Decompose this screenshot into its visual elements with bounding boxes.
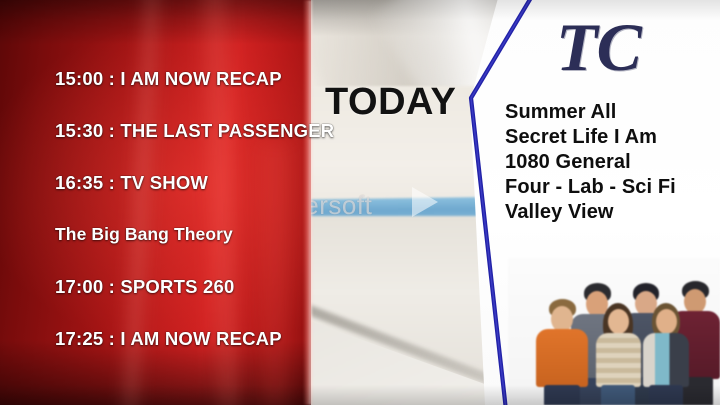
legs [649, 385, 683, 405]
schedule-row[interactable]: 15:30 : THE LAST PASSENGER [55, 120, 334, 142]
schedule-row[interactable]: 16:35 : TV SHOW [55, 172, 208, 194]
info-line: Summer All [505, 100, 720, 125]
person-1 [534, 285, 590, 405]
schedule-row[interactable]: 17:00 : SPORTS 260 [55, 276, 234, 298]
torso [536, 329, 588, 387]
schedule-row[interactable]: 17:25 : I AM NOW RECAP [55, 328, 282, 350]
tv-epg-screen: Aimersoft 15:00 : I AM NOW RECAP 15:30 :… [0, 0, 720, 405]
group-photo [508, 258, 720, 405]
today-label: TODAY [325, 81, 456, 124]
info-line: Four - Lab - Sci Fi [505, 175, 720, 200]
torso [643, 333, 689, 387]
legs [544, 385, 580, 405]
channel-logo: TC [556, 13, 641, 81]
person-3 [592, 287, 644, 405]
schedule-list: 15:00 : I AM NOW RECAP 15:30 : THE LAST … [0, 0, 311, 405]
person-5 [640, 287, 692, 405]
torso [596, 333, 641, 387]
info-line: Valley View [505, 200, 720, 225]
schedule-row[interactable]: The Big Bang Theory [55, 224, 233, 245]
schedule-row[interactable]: 15:00 : I AM NOW RECAP [55, 68, 282, 90]
head [656, 309, 677, 334]
legs [601, 385, 635, 405]
head [608, 309, 629, 334]
info-line: Secret Life I Am [505, 125, 720, 150]
info-line: 1080 General [505, 150, 720, 175]
program-info-block: Summer All Secret Life I Am 1080 General… [505, 100, 720, 225]
